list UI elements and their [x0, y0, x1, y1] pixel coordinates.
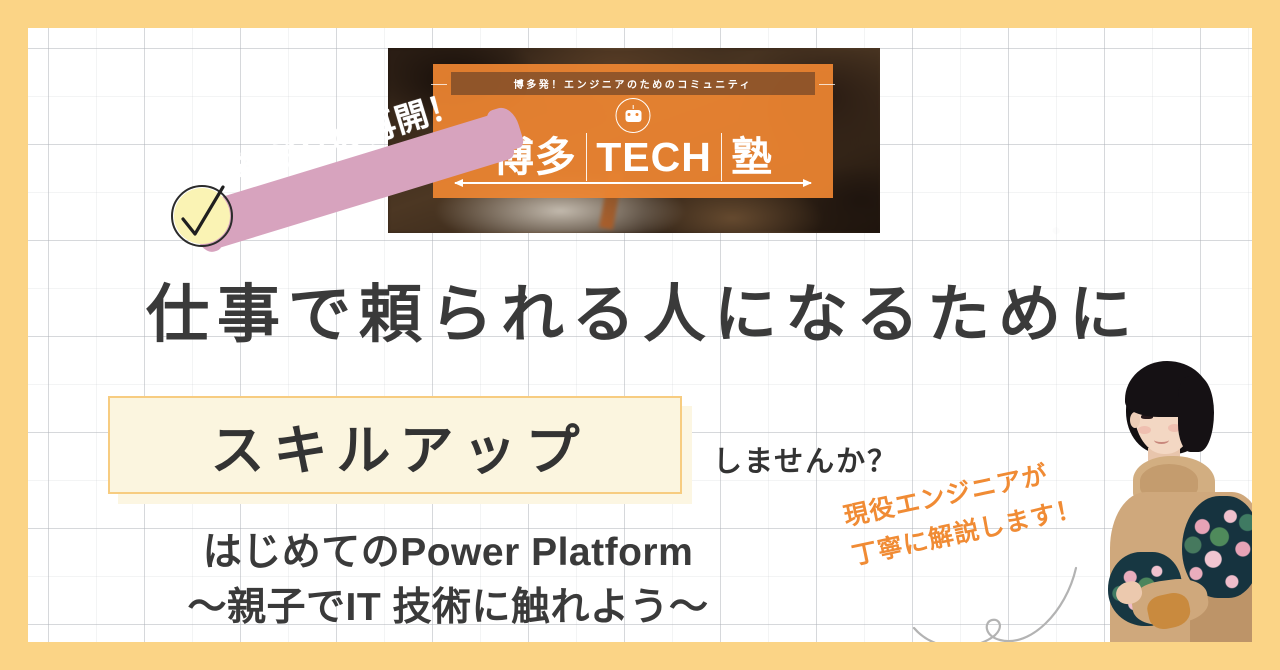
highlight-suffix: しませんか？ [713, 438, 898, 480]
event-subtitle: はじめてのPower Platform 〜親子でIT 技術に触れよう〜 [148, 525, 748, 636]
subtitle-line-2: 〜親子でIT 技術に触れよう〜 [148, 580, 748, 635]
brand-logo-card: 博多発！エンジニアのためのコミュニティ 博多 TECH 塾 [433, 64, 833, 198]
highlight-label: スキルアップ [202, 406, 589, 485]
presenter-photo [1078, 356, 1252, 642]
presenter-mouth [1154, 436, 1169, 444]
presenter-ear [1130, 412, 1140, 428]
poster-canvas: 博多発！エンジニアのためのコミュニティ 博多 TECH 塾 [0, 0, 1280, 670]
subtitle-line-1: はじめてのPower Platform [148, 525, 748, 580]
brand-tagline-text: 博多発！エンジニアのためのコミュニティ [514, 76, 753, 91]
check-mark-icon [171, 185, 233, 247]
logo-segment-tech: TECH [587, 137, 721, 178]
page-title: 仕事で頼られる人になるために [146, 280, 1206, 351]
logo-arrow-rule [455, 182, 811, 184]
presenter-cheek-left [1138, 426, 1151, 434]
highlight-box: スキルアップ [108, 396, 682, 494]
robot-icon [616, 98, 651, 133]
logo-segment-hakata: 博多 [484, 137, 586, 178]
brand-tagline-strip: 博多発！エンジニアのためのコミュニティ [451, 72, 815, 95]
robot-eye-right [635, 113, 638, 116]
check-glyph [179, 185, 227, 247]
presenter-hair-side [1178, 376, 1214, 452]
brand-logo-title: 博多 TECH 塾 [433, 132, 833, 182]
event-banner-image: 博多発！エンジニアのためのコミュニティ 博多 TECH 塾 [388, 48, 880, 233]
robot-eye-left [628, 113, 631, 116]
poster-inner-frame: 博多発！エンジニアのためのコミュニティ 博多 TECH 塾 [28, 28, 1252, 642]
robot-body-shape [625, 110, 641, 122]
logo-segment-juku: 塾 [722, 137, 782, 178]
robot-eyes [628, 113, 639, 116]
